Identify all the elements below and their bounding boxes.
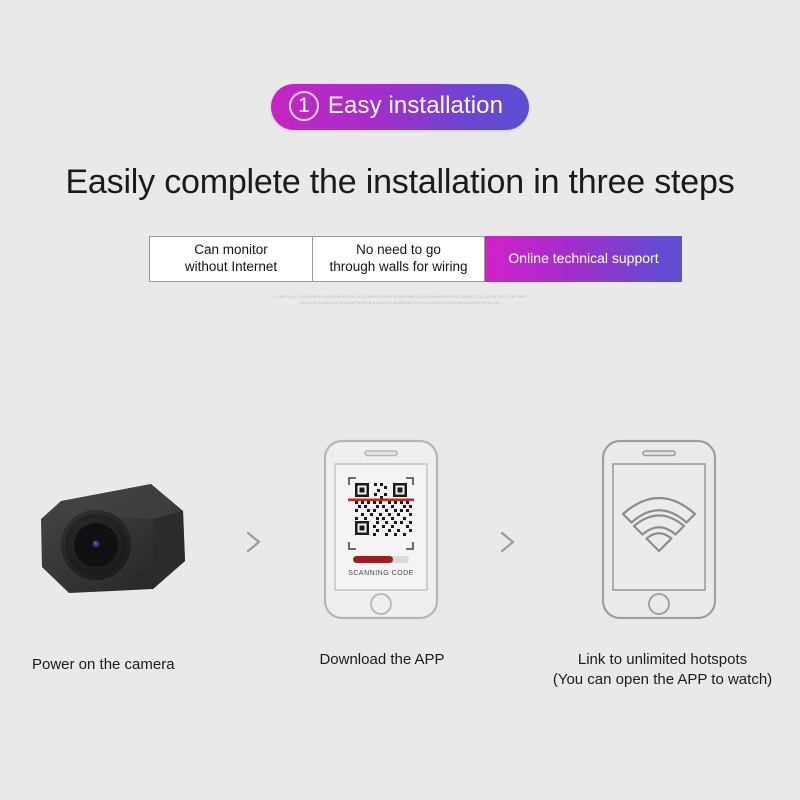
caption-link-hotspots: Link to unlimited hotspots (You can open… xyxy=(530,650,795,691)
fine-print: GL-WDF-AQ-LTL-B-KD-MDF-XA-BNCKB-DFXDF-JX… xyxy=(0,294,800,307)
fine-print-line-2: VADFCKF-JSDBLXQK-DFSGABFWSDX-B-KJGZGFNC-… xyxy=(0,300,800,306)
caption-1-text: Power on the camera xyxy=(32,656,175,673)
badge-number: 1 xyxy=(289,91,319,121)
feature-bar: Can monitor without Internet No need to … xyxy=(149,236,682,282)
chevron-right-icon-2 xyxy=(492,527,522,557)
phone-wifi-icon xyxy=(600,438,718,621)
svg-text:SCANNING CODE: SCANNING CODE xyxy=(348,570,414,577)
feature-cell-2-line2: through walls for wiring xyxy=(329,259,467,274)
feature-cell-1-line1: Can monitor xyxy=(194,242,268,257)
step-download-app: SCANNING CODE xyxy=(322,438,440,621)
step-badge: 1 Easy installation xyxy=(271,84,529,130)
phone-qr-icon: SCANNING CODE xyxy=(322,438,440,621)
step-connect-hotspot xyxy=(600,438,718,621)
steps-row: SCANNING CODE xyxy=(0,430,800,650)
feature-cell-1-line2: without Internet xyxy=(185,259,277,274)
feature-cell-2-line1: No need to go xyxy=(356,242,441,257)
badge-row: 1 Easy installation xyxy=(0,84,800,130)
step-camera xyxy=(33,475,198,600)
feature-cell-support: Online technical support xyxy=(485,236,682,282)
feature-cell-monitor: Can monitor without Internet xyxy=(149,236,313,282)
scan-line xyxy=(348,499,414,502)
caption-download-app: Download the APP xyxy=(262,650,502,670)
caption-3-line1: Link to unlimited hotspots xyxy=(578,651,747,668)
feature-cell-wiring: No need to go through walls for wiring xyxy=(313,236,485,282)
caption-power-on-camera: Power on the camera xyxy=(32,655,232,675)
chevron-right-icon-1 xyxy=(238,527,268,557)
page-title: Easily complete the installation in thre… xyxy=(0,163,800,202)
caption-2-text: Download the APP xyxy=(319,651,444,668)
caption-3-line2: (You can open the APP to watch) xyxy=(530,670,795,690)
feature-cell-3-line1: Online technical support xyxy=(504,250,662,268)
badge-label: Easy installation xyxy=(328,92,503,120)
mini-camera-icon xyxy=(33,475,198,600)
